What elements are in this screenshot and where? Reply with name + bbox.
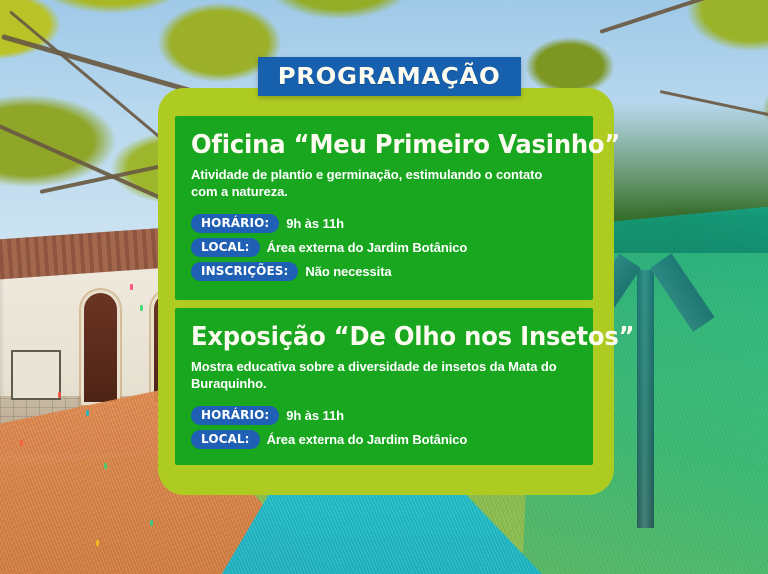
programacao-banner: PROGRAMAÇÃO bbox=[258, 57, 521, 96]
event-card[interactable]: Oficina “Meu Primeiro Vasinho” Atividade… bbox=[175, 116, 593, 300]
wall-plaque bbox=[11, 350, 61, 400]
schedule-panel: Oficina “Meu Primeiro Vasinho” Atividade… bbox=[158, 88, 614, 495]
confetti-speck bbox=[58, 392, 61, 398]
info-label-horario: HORÁRIO: bbox=[191, 214, 279, 233]
schedule-panel-inner: Oficina “Meu Primeiro Vasinho” Atividade… bbox=[175, 116, 593, 465]
info-label-horario: HORÁRIO: bbox=[191, 406, 279, 425]
poster-canvas: PROGRAMAÇÃO Oficina “Meu Primeiro Vasinh… bbox=[0, 0, 768, 574]
info-row: LOCAL: Área externa do Jardim Botânico bbox=[191, 430, 577, 449]
confetti-speck bbox=[96, 540, 99, 546]
event-description: Atividade de plantio e germinação, estim… bbox=[191, 166, 566, 200]
info-value-local: Área externa do Jardim Botânico bbox=[267, 432, 468, 447]
info-value-horario: 9h às 11h bbox=[286, 216, 344, 231]
event-description: Mostra educativa sobre a diversidade de … bbox=[191, 358, 566, 392]
confetti-speck bbox=[150, 520, 153, 526]
confetti-speck bbox=[20, 440, 23, 446]
info-label-local: LOCAL: bbox=[191, 430, 260, 449]
info-row: HORÁRIO: 9h às 11h bbox=[191, 214, 577, 233]
info-label-inscricoes: INSCRIÇÕES: bbox=[191, 262, 298, 281]
event-card[interactable]: Exposição “De Olho nos Insetos” Mostra e… bbox=[175, 308, 593, 465]
event-info-list: HORÁRIO: 9h às 11h LOCAL: Área externa d… bbox=[191, 214, 577, 281]
event-title: Oficina “Meu Primeiro Vasinho” bbox=[191, 132, 558, 159]
info-value-horario: 9h às 11h bbox=[286, 408, 344, 423]
info-row: HORÁRIO: 9h às 11h bbox=[191, 406, 577, 425]
confetti-speck bbox=[130, 284, 133, 290]
confetti-speck bbox=[86, 410, 89, 416]
banner-title: PROGRAMAÇÃO bbox=[278, 64, 501, 90]
info-row: INSCRIÇÕES: Não necessita bbox=[191, 262, 577, 281]
event-title: Exposição “De Olho nos Insetos” bbox=[191, 324, 558, 351]
confetti-speck bbox=[140, 305, 143, 311]
event-info-list: HORÁRIO: 9h às 11h LOCAL: Área externa d… bbox=[191, 406, 577, 449]
info-label-local: LOCAL: bbox=[191, 238, 260, 257]
info-value-inscricoes: Não necessita bbox=[305, 264, 391, 279]
info-value-local: Área externa do Jardim Botânico bbox=[267, 240, 468, 255]
info-row: LOCAL: Área externa do Jardim Botânico bbox=[191, 238, 577, 257]
confetti-speck bbox=[104, 463, 107, 469]
